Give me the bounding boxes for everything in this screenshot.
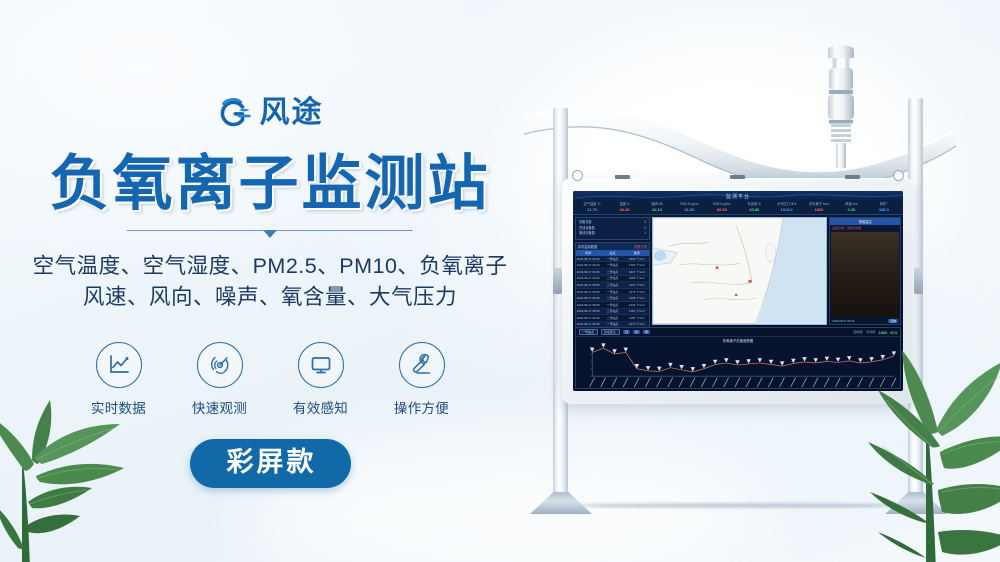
table-row[interactable]: 2023-08-17 09:15 一号站点 1860 个/cm³ — [576, 256, 649, 263]
column-header: 时间 — [576, 251, 600, 255]
stat-label: 离线设备数 — [579, 231, 595, 236]
chart-legend: 实时值 平均值 — [853, 330, 875, 334]
cell-value: 1298 个/cm³ — [625, 296, 649, 300]
wrench-icon — [409, 352, 435, 378]
cell-value: 1106 个/cm³ — [625, 316, 649, 320]
cell-station: 二号站点 — [600, 316, 624, 320]
metric-card[interactable]: 负氧离子 /cm³ 1860 — [803, 202, 835, 212]
table-row[interactable]: 2023-08-17 09:00 二号站点 1588 个/cm³ — [576, 276, 649, 283]
metric-value: 1860 — [803, 207, 835, 213]
china-map-icon — [653, 218, 826, 324]
cell-station: 一号站点 — [600, 290, 624, 294]
feature-label: 有效感知 — [293, 397, 348, 417]
side-bracket-left — [553, 268, 562, 294]
ultrasonic-weather-sensor-icon — [818, 40, 864, 168]
cell-time: 2023-08-17 08:45 — [576, 296, 600, 300]
footer-timestamp: 2023-08-17 09:15 — [832, 319, 854, 323]
brand-logo: 风途 — [217, 96, 324, 130]
panel-header: 视频监控 — [830, 218, 900, 225]
metric-value: 42.10 — [641, 207, 673, 213]
chart-plot-area — [576, 343, 900, 389]
chart-toolbar: 一号站点 负氧离子 日 月 年 实时值 平均值 1860 873 — [576, 328, 900, 337]
mount-hook — [730, 175, 745, 179]
feature-list: 实时数据 快速观测 — [86, 342, 455, 417]
legend-item: 平均值 — [866, 330, 875, 334]
metric-value: 66.30 — [608, 207, 640, 213]
stat-row: 离线设备数 1 — [579, 231, 646, 236]
line-chart-icon — [106, 352, 132, 378]
mount-hook — [845, 175, 860, 179]
metric-value: 2.30 — [835, 207, 867, 213]
cell-station: 二号站点 — [600, 270, 624, 274]
feature-icon-circle — [96, 342, 142, 388]
table-row[interactable]: 2023-08-17 08:30 二号站点 1106 个/cm³ — [576, 315, 649, 322]
cell-time: 2023-08-17 08:40 — [576, 303, 600, 307]
column-header: 站点 — [600, 251, 624, 255]
cell-value: 1647 个/cm³ — [625, 270, 649, 274]
mount-eyelet-right — [893, 170, 904, 181]
stat-value: 1 — [644, 231, 646, 236]
cell-station: 一号站点 — [600, 257, 624, 261]
camera-feed[interactable] — [831, 232, 899, 317]
trend-line-chart-icon — [576, 343, 900, 389]
cell-station: 一号站点 — [600, 303, 624, 307]
cell-station: 二号站点 — [600, 296, 624, 300]
cell-station: 一号站点 — [600, 263, 624, 267]
metric-value: 168.0 — [868, 207, 900, 213]
display-enclosure: 监测平台 空气温度 ℃ 21.70 湿度 % 66.30 噪声 dB 42.10 — [562, 178, 914, 404]
cell-value: 1431 个/cm³ — [625, 283, 649, 287]
promo-banner: 风途 负氧离子监测站 空气温度、空气湿度、PM2.5、PM10、负氧离子 风速、… — [0, 0, 1000, 562]
range-button-month[interactable]: 月 — [633, 330, 640, 334]
monitoring-station: 监测平台 空气温度 ℃ 21.70 湿度 % 66.30 噪声 dB 42.10 — [520, 40, 960, 520]
metric-value: 1013.2 — [770, 207, 802, 213]
table-row[interactable]: 2023-08-17 08:35 三号站点 1187 个/cm³ — [576, 309, 649, 316]
dashboard-body: 设备总数 3 在线设备数 2 离线设备数 1 — [573, 215, 903, 327]
table-row[interactable]: 2023-08-17 08:45 二号站点 1298 个/cm³ — [576, 295, 649, 302]
metric-card[interactable]: 湿度 % 66.30 — [608, 202, 640, 212]
subtitle-block: 空气温度、空气湿度、PM2.5、PM10、负氧离子 风速、风向、噪声、氧含量、大… — [33, 251, 508, 315]
feature-item-effective-sensing[interactable]: 有效感知 — [288, 342, 354, 417]
china-map[interactable] — [652, 217, 827, 325]
subtitle-line-1: 空气温度、空气湿度、PM2.5、PM10、负氧离子 — [33, 251, 508, 283]
table-caption: 实时监测数据 报警记录 — [576, 243, 649, 250]
feature-item-easy-operation[interactable]: 操作方便 — [389, 342, 455, 417]
table-row[interactable]: 2023-08-17 08:40 一号站点 1244 个/cm³ — [576, 302, 649, 309]
metric-card[interactable]: 风速 m/s 2.30 — [835, 202, 867, 212]
cell-station: 三号站点 — [600, 283, 624, 287]
cell-station: 二号站点 — [600, 276, 624, 280]
metric-value: 20.80 — [738, 207, 770, 213]
marketing-text-column: 风途 负氧离子监测站 空气温度、空气湿度、PM2.5、PM10、负氧离子 风速、… — [0, 0, 540, 562]
feature-item-fast-observation[interactable]: 快速观测 — [187, 342, 253, 417]
feature-label: 操作方便 — [394, 397, 449, 417]
metric-card[interactable]: PM2.5 ug/m³ 41.00 — [673, 202, 705, 212]
color-screen-model-button[interactable]: 彩屏款 — [190, 439, 351, 488]
table-row[interactable]: 2023-08-17 08:55 三号站点 1431 个/cm³ — [576, 282, 649, 289]
dashboard-left-column: 设备总数 3 在线设备数 2 离线设备数 1 — [575, 217, 650, 325]
subtitle-line-2: 风速、风向、噪声、氧含量、大气压力 — [33, 282, 508, 314]
table-row[interactable]: 2023-08-17 09:10 一号站点 1792 个/cm³ — [576, 262, 649, 269]
cell-time: 2023-08-17 08:30 — [576, 316, 600, 320]
realtime-data-table[interactable]: 实时监测数据 报警记录 时间 站点 数值 2023-08-17 09:15 一号… — [575, 242, 650, 330]
metric-card[interactable]: 大气压力 hPa 1013.2 — [770, 202, 802, 212]
metric-card[interactable]: 风向 ° 168.0 — [868, 202, 900, 212]
legend-item: 实时值 — [853, 330, 862, 334]
metric-card[interactable]: PM10 ug/m³ 66.00 — [706, 202, 738, 212]
mount-hook — [615, 175, 630, 179]
metric-value: 66.00 — [706, 207, 738, 213]
feature-item-realtime-data[interactable]: 实时数据 — [86, 342, 152, 417]
metric-value: 41.00 — [673, 207, 705, 213]
cell-station: 一号站点 — [600, 322, 624, 326]
monitor-screen-icon — [308, 352, 334, 378]
kpi-max-value: 1860 — [878, 330, 887, 335]
cell-value: 1860 个/cm³ — [625, 257, 649, 261]
cell-station: 三号站点 — [600, 309, 624, 313]
panel-footer: 2023-08-17 09:15 回放 — [830, 318, 900, 324]
column-header: 数值 — [625, 251, 649, 255]
base-plate-left — [530, 492, 592, 514]
device-stats-box: 设备总数 3 在线设备数 2 离线设备数 1 — [575, 217, 650, 239]
table-caption-text: 实时监测数据 — [578, 244, 597, 249]
feature-icon-circle — [298, 342, 344, 388]
range-button-year[interactable]: 年 — [643, 330, 650, 334]
cell-value: 1244 个/cm³ — [625, 303, 649, 307]
cell-value: 1376 个/cm³ — [625, 290, 649, 294]
radar-sensor-icon — [207, 352, 233, 378]
side-bracket-right — [914, 268, 923, 294]
cell-time: 2023-08-17 08:25 — [576, 322, 600, 326]
dashboard-screen[interactable]: 监测平台 空气温度 ℃ 21.70 湿度 % 66.30 噪声 dB 42.10 — [573, 191, 903, 391]
metric-card[interactable]: 空气温度 ℃ 21.70 — [576, 202, 608, 212]
table-row[interactable]: 2023-08-17 08:50 一号站点 1376 个/cm³ — [576, 289, 649, 296]
alert-text: 设备异常，请及时处理 — [830, 225, 900, 231]
range-button-day[interactable]: 日 — [623, 330, 630, 334]
playback-button[interactable]: 回放 — [888, 319, 898, 323]
feng-tu-leaf-g-logo-icon — [217, 96, 251, 130]
dashboard-right-column: 视频监控 设备异常，请及时处理 2023-08-17 09:15 回放 — [829, 217, 901, 325]
metric-value: 21.70 — [576, 207, 608, 213]
dashboard-title: 监测平台 — [573, 191, 903, 201]
base-plate-right — [885, 492, 947, 514]
table-row[interactable]: 2023-08-17 09:05 二号站点 1647 个/cm³ — [576, 269, 649, 276]
cell-time: 2023-08-17 08:55 — [576, 283, 600, 287]
feature-icon-circle — [197, 342, 243, 388]
mount-eyelet-left — [572, 170, 583, 181]
factor-select[interactable]: 负氧离子 — [601, 329, 620, 335]
feature-label: 实时数据 — [91, 397, 146, 417]
cell-time: 2023-08-17 09:10 — [576, 263, 600, 267]
cell-value: 1073 个/cm³ — [625, 322, 649, 326]
cell-value: 1792 个/cm³ — [625, 263, 649, 267]
cell-time: 2023-08-17 08:35 — [576, 309, 600, 313]
title-divider — [127, 230, 413, 231]
video-monitor-panel[interactable]: 视频监控 设备异常，请及时处理 2023-08-17 09:15 回放 — [829, 217, 901, 325]
cell-time: 2023-08-17 09:15 — [576, 257, 600, 261]
alarm-records-link[interactable]: 报警记录 — [634, 244, 647, 249]
cell-time: 2023-08-17 08:50 — [576, 290, 600, 294]
station-select[interactable]: 一号站点 — [579, 329, 598, 335]
metric-strip: 空气温度 ℃ 21.70 湿度 % 66.30 噪声 dB 42.10 PM2.… — [573, 201, 903, 215]
page-title: 负氧离子监测站 — [50, 152, 491, 216]
cell-value: 1187 个/cm³ — [625, 309, 649, 313]
kpi-min-value: 873 — [890, 330, 897, 335]
feature-icon-circle — [399, 342, 445, 388]
brand-name: 风途 — [260, 98, 324, 128]
cell-value: 1588 个/cm³ — [625, 276, 649, 280]
metric-card[interactable]: 噪声 dB 42.10 — [641, 202, 673, 212]
trend-chart-panel[interactable]: 一号站点 负氧离子 日 月 年 实时值 平均值 1860 873 负氧离子浓度趋… — [575, 327, 901, 389]
header-wave-decor-icon — [573, 191, 903, 201]
cell-time: 2023-08-17 09:00 — [576, 276, 600, 280]
feature-label: 快速观测 — [192, 397, 247, 417]
metric-card[interactable]: 氧含量 % 20.80 — [738, 202, 770, 212]
cell-time: 2023-08-17 09:05 — [576, 270, 600, 274]
